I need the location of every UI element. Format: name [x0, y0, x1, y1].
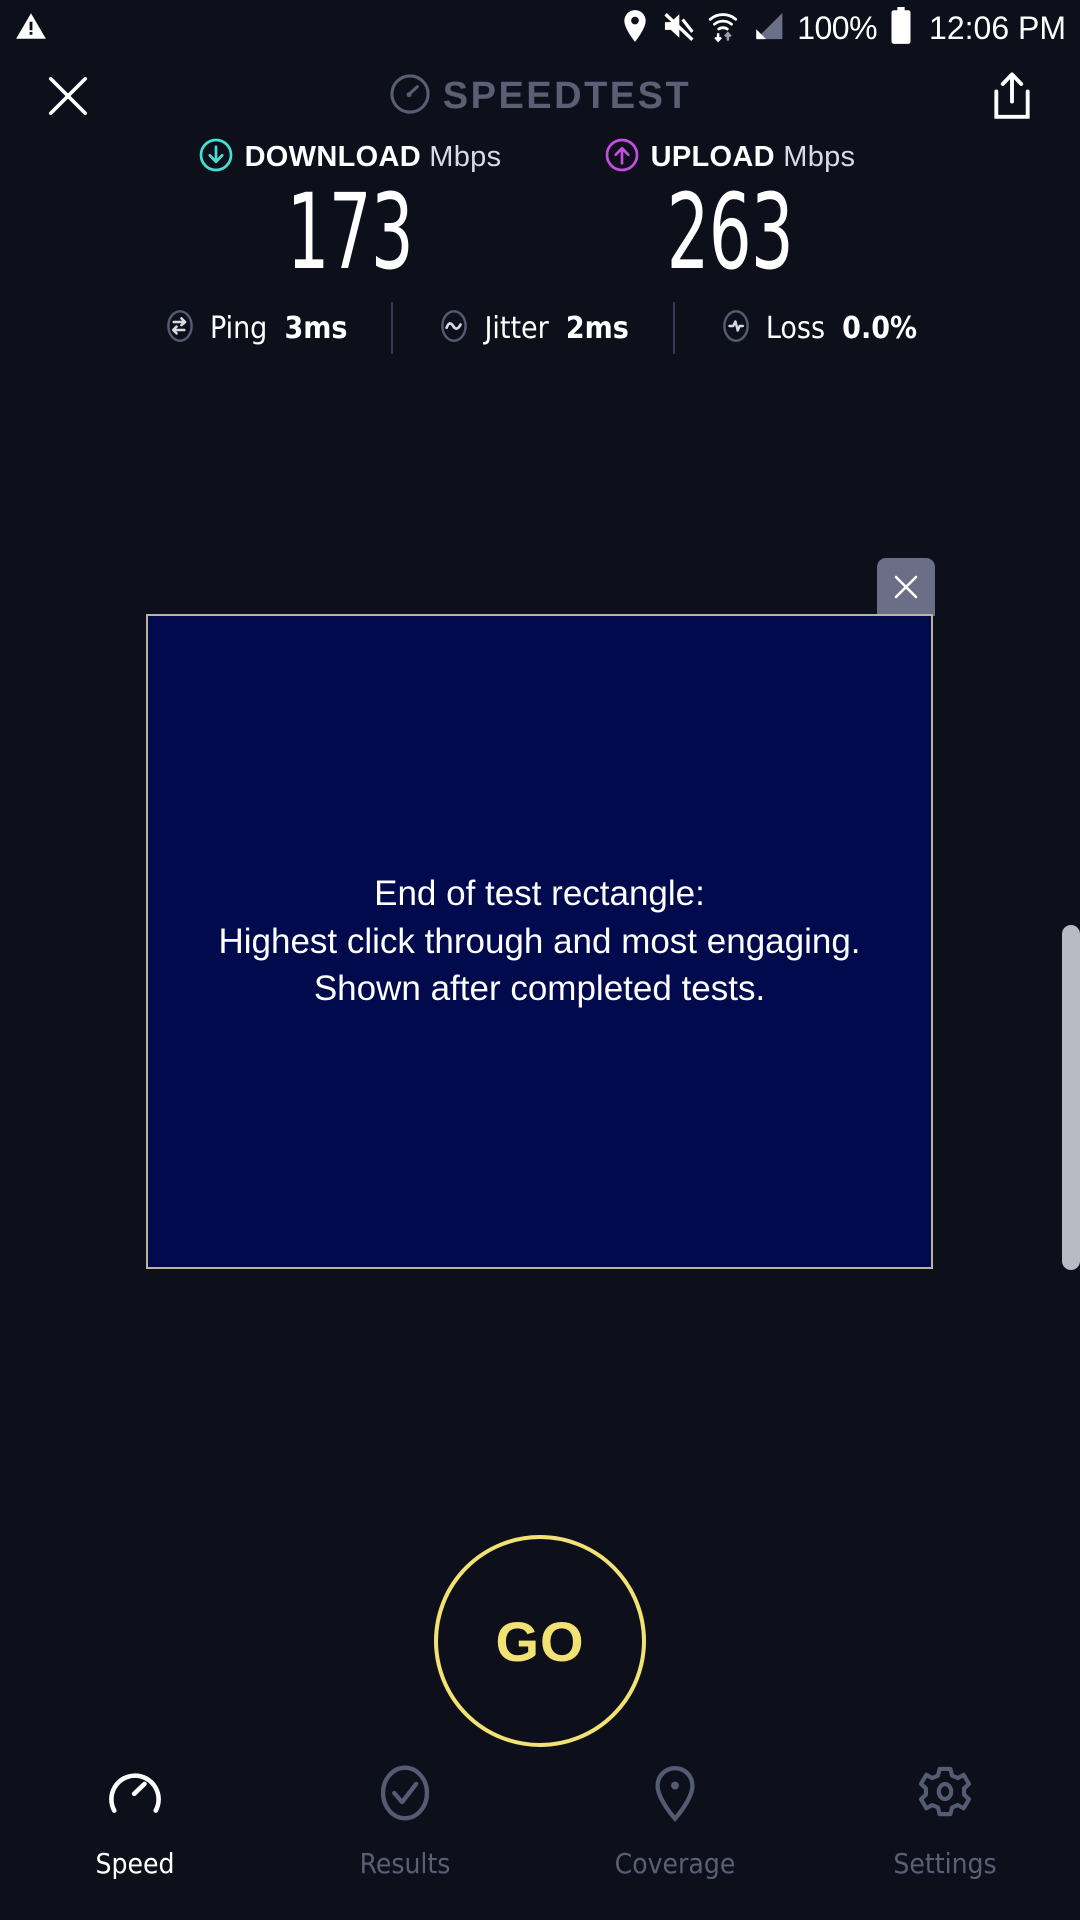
vertical-scrollbar-thumb[interactable] — [1062, 925, 1080, 1270]
advertisement-container: End of test rectangle: Highest click thr… — [146, 614, 933, 1269]
check-circle-icon — [376, 1764, 434, 1827]
nav-label-coverage: Coverage — [615, 1847, 736, 1880]
upload-result: UPLOAD Mbps 263 — [540, 138, 920, 285]
go-button-label: GO — [495, 1609, 584, 1674]
upload-label: UPLOAD Mbps — [651, 141, 856, 174]
nav-label-speed: Speed — [96, 1847, 175, 1880]
wifi-icon — [707, 9, 739, 48]
ad-close-button[interactable] — [877, 558, 935, 616]
nav-label-settings: Settings — [893, 1847, 996, 1880]
map-pin-icon — [646, 1764, 704, 1827]
app-header: SPEEDTEST — [0, 56, 1080, 136]
app-logo: SPEEDTEST — [0, 56, 1080, 136]
stat-loss: Loss 0.0% — [719, 309, 917, 348]
ad-line-1: End of test rectangle: — [218, 870, 860, 918]
download-label: DOWNLOAD Mbps — [245, 141, 502, 174]
jitter-icon — [437, 309, 471, 348]
close-button[interactable] — [40, 68, 96, 124]
status-bar-left — [14, 9, 48, 48]
connection-stats: Ping 3ms Jitter 2ms Loss 0.0% — [0, 302, 1080, 354]
nav-item-speed[interactable]: Speed — [0, 1764, 270, 1880]
nav-label-results: Results — [360, 1847, 451, 1880]
warning-triangle-icon — [14, 9, 48, 48]
download-arrow-icon — [199, 138, 233, 177]
download-value: 173 — [287, 179, 413, 285]
ping-icon — [163, 309, 197, 348]
upload-value: 263 — [667, 179, 793, 285]
download-result: DOWNLOAD Mbps 173 — [160, 138, 540, 285]
speedometer-icon — [106, 1764, 164, 1827]
speedtest-app-screen: 100% 12:06 PM SPEEDTEST — [0, 0, 1080, 1920]
stat-loss-text: Loss 0.0% — [766, 311, 917, 346]
nav-item-results[interactable]: Results — [270, 1764, 540, 1880]
clock-label: 12:06 PM — [929, 10, 1066, 47]
battery-full-icon — [889, 7, 913, 50]
stat-jitter-text: Jitter 2ms — [484, 311, 628, 346]
status-bar: 100% 12:06 PM — [0, 0, 1080, 56]
stat-divider — [391, 302, 393, 354]
stat-ping: Ping 3ms — [163, 309, 348, 348]
stat-ping-text: Ping 3ms — [210, 311, 348, 346]
stat-divider — [673, 302, 675, 354]
share-button[interactable] — [984, 66, 1040, 126]
app-title: SPEEDTEST — [443, 75, 691, 118]
go-button[interactable]: GO — [434, 1535, 646, 1747]
ad-line-3: Shown after completed tests. — [218, 965, 860, 1013]
status-bar-right: 100% 12:06 PM — [621, 7, 1066, 50]
ad-text: End of test rectangle: Highest click thr… — [218, 870, 860, 1013]
advertisement-banner[interactable]: End of test rectangle: Highest click thr… — [146, 614, 933, 1269]
speedometer-icon — [389, 73, 431, 120]
location-pin-icon — [621, 9, 649, 48]
volume-muted-icon — [661, 9, 695, 48]
cellular-signal-icon — [751, 9, 785, 48]
stat-jitter: Jitter 2ms — [437, 309, 628, 348]
results-section: DOWNLOAD Mbps 173 UPLOAD Mbps 263 — [0, 138, 1080, 285]
loss-icon — [719, 309, 753, 348]
nav-item-coverage[interactable]: Coverage — [540, 1764, 810, 1880]
bottom-navigation: Speed Results Coverage Settings — [0, 1750, 1080, 1920]
nav-item-settings[interactable]: Settings — [810, 1764, 1080, 1880]
battery-percent-label: 100% — [797, 10, 877, 47]
upload-arrow-icon — [605, 138, 639, 177]
ad-line-2: Highest click through and most engaging. — [218, 918, 860, 966]
gear-icon — [916, 1764, 974, 1827]
